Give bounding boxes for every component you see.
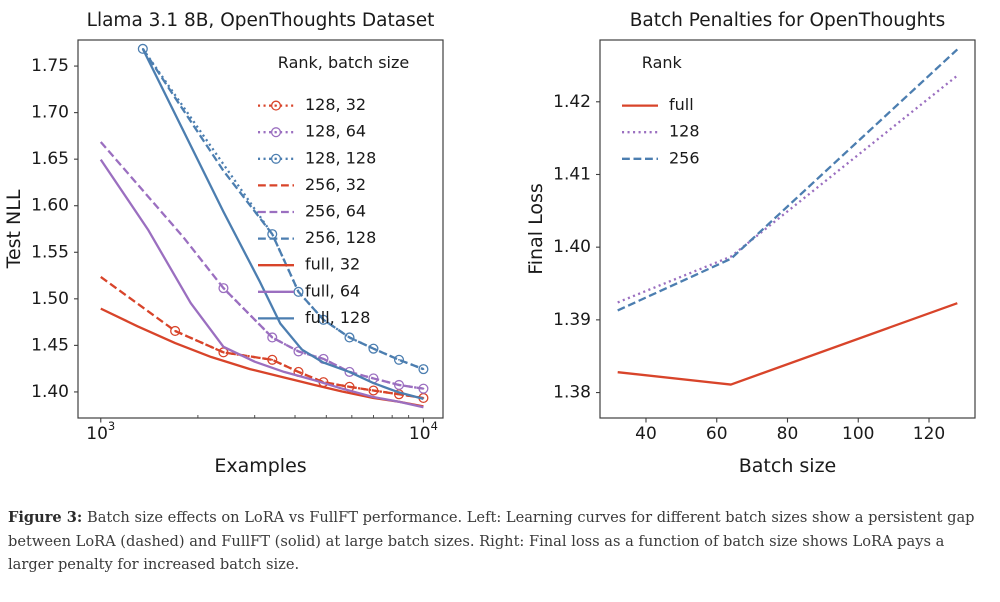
- legend-label-256: 256: [669, 148, 700, 167]
- legend-label-128-64: 128, 64: [305, 122, 366, 141]
- series-line-256: [618, 49, 958, 310]
- legend-title-right: Rank: [642, 53, 683, 72]
- series-marker-dot-128-128: [398, 359, 400, 361]
- y-tick-label-left: 1.40: [31, 382, 69, 402]
- x-axis-title-left: Examples: [214, 455, 306, 477]
- x-tick-label-right: 40: [635, 424, 657, 444]
- legend-title-left: Rank, batch size: [278, 53, 409, 72]
- series-marker-dot-128-32: [271, 359, 273, 361]
- legend-marker-dot-128-64: [275, 131, 277, 133]
- plot-area: Llama 3.1 8B, OpenThoughts Dataset1.401.…: [0, 0, 1000, 500]
- figure-svg: Llama 3.1 8B, OpenThoughts Dataset1.401.…: [0, 0, 1000, 500]
- panel-left: Llama 3.1 8B, OpenThoughts Dataset1.401.…: [3, 10, 443, 477]
- legend-label-full: full: [669, 95, 694, 114]
- series-line-128-64: [223, 288, 423, 389]
- x-tick-label-right: 60: [706, 424, 728, 444]
- y-tick-label-right: 1.42: [553, 92, 591, 112]
- y-tick-label-left: 1.55: [31, 242, 69, 262]
- y-tick-label-left: 1.70: [31, 103, 69, 123]
- y-tick-label-left: 1.45: [31, 335, 69, 355]
- y-axis-title-right: Final Loss: [525, 183, 547, 275]
- x-axis-title-right: Batch size: [739, 455, 837, 477]
- legend-label-128-128: 128, 128: [305, 148, 376, 167]
- legend-marker-dot-128-128: [275, 158, 277, 160]
- figure-caption-label: Figure 3:: [8, 509, 82, 526]
- legend-label-full-32: full, 32: [305, 255, 360, 274]
- y-tick-label-left: 1.60: [31, 196, 69, 216]
- figure-root: Llama 3.1 8B, OpenThoughts Dataset1.401.…: [0, 0, 1000, 602]
- x-tick-label-right: 80: [777, 424, 799, 444]
- x-tick-label-left: 104: [409, 419, 438, 444]
- legend-label-256-128: 256, 128: [305, 228, 376, 247]
- series-line-256-128: [143, 49, 424, 369]
- y-tick-label-left: 1.75: [31, 56, 69, 76]
- legend-label-128: 128: [669, 122, 700, 141]
- x-tick-label-left: 103: [86, 419, 115, 444]
- legend-label-128-32: 128, 32: [305, 95, 366, 114]
- y-tick-label-right: 1.38: [553, 383, 591, 403]
- axes-frame-left: [78, 40, 443, 418]
- x-tick-label-right: 100: [842, 424, 874, 444]
- y-tick-label-left: 1.65: [31, 149, 69, 169]
- y-axis-title-left: Test NLL: [3, 189, 25, 269]
- legend-label-256-64: 256, 64: [305, 202, 366, 221]
- y-tick-label-left: 1.50: [31, 289, 69, 309]
- series-line-full: [618, 303, 958, 384]
- y-tick-label-right: 1.40: [553, 237, 591, 257]
- legend-label-256-32: 256, 32: [305, 175, 366, 194]
- y-tick-label-right: 1.39: [553, 310, 591, 330]
- axes-frame-right: [600, 40, 975, 418]
- x-tick-label-right: 120: [913, 424, 945, 444]
- series-line-128-128: [143, 49, 424, 369]
- legend-marker-dot-128-32: [275, 105, 277, 107]
- legend-label-full-128: full, 128: [305, 308, 370, 327]
- plot-title-right: Batch Penalties for OpenThoughts: [630, 10, 946, 31]
- legend-label-full-64: full, 64: [305, 281, 360, 300]
- figure-caption: Figure 3: Batch size effects on LoRA vs …: [8, 506, 992, 577]
- plot-title-left: Llama 3.1 8B, OpenThoughts Dataset: [87, 10, 435, 31]
- figure-caption-text: Batch size effects on LoRA vs FullFT per…: [8, 509, 975, 573]
- y-tick-label-right: 1.41: [553, 164, 591, 184]
- panel-right: Batch Penalties for OpenThoughts1.381.39…: [525, 10, 975, 477]
